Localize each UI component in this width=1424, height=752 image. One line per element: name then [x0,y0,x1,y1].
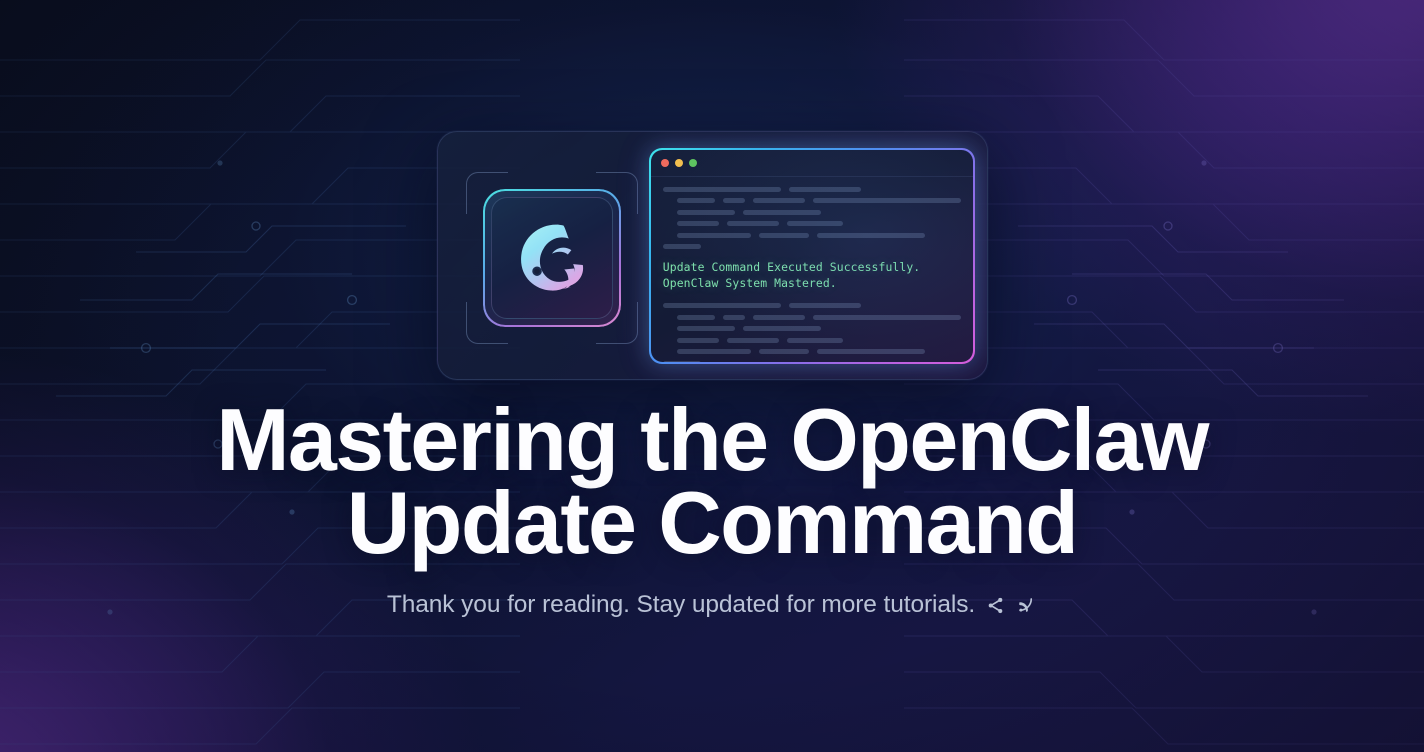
terminal-success-message: Update Command Executed Successfully. Op… [663,260,961,291]
skeleton-bar [787,338,843,343]
skeleton-row [663,221,961,226]
skeleton-bar [817,349,925,354]
skeleton-bar [723,315,745,320]
skeleton-bar [677,326,735,331]
skeleton-bar [727,221,779,226]
skeleton-bar [677,315,715,320]
terminal-window: Update Command Executed Successfully. Op… [649,148,975,364]
skeleton-row [663,244,961,249]
rss-icon[interactable] [1015,594,1037,616]
skeleton-bar [743,326,821,331]
skeleton-bar [663,361,701,362]
skeleton-bar [789,303,861,308]
terminal-content: Update Command Executed Successfully. Op… [651,177,973,362]
headline-group: Mastering the OpenClaw Update Command Th… [0,398,1424,620]
hero-card: Update Command Executed Successfully. Op… [437,131,988,380]
skeleton-bar [677,221,719,226]
circuit-pattern-left [0,0,520,752]
circuit-pattern-right [904,0,1424,752]
skeleton-bar [759,233,809,238]
logo-tile-inner [491,197,613,319]
skeleton-row [663,198,961,203]
skeleton-bar [753,315,805,320]
page-title: Mastering the OpenClaw Update Command [120,398,1304,564]
openclaw-logo-icon [508,214,596,302]
skeleton-bar [813,315,962,320]
terminal-body: Update Command Executed Successfully. Op… [651,150,973,362]
skeleton-row [663,361,961,362]
skeleton-bar [663,244,701,249]
traffic-light-maximize-icon[interactable] [689,159,697,167]
skeleton-bar [743,210,821,215]
skeleton-bar [759,349,809,354]
skeleton-row [663,303,961,308]
skeleton-row [663,349,961,354]
hero-banner: Update Command Executed Successfully. Op… [0,0,1424,752]
skeleton-row [663,187,961,192]
skeleton-bar [813,198,962,203]
logo-tile [483,189,621,327]
skeleton-bar [723,198,745,203]
subtitle-text: Thank you for reading. Stay updated for … [387,590,975,620]
skeleton-bar [677,198,715,203]
skeleton-bar [677,338,719,343]
skeleton-bar [727,338,779,343]
skeleton-row [663,210,961,215]
skeleton-bar [787,221,843,226]
skeleton-bar [753,198,805,203]
skeleton-bar [677,233,751,238]
skeleton-row [663,338,961,343]
skeleton-bar [677,349,751,354]
terminal-skeleton-top [663,187,961,250]
terminal-titlebar [651,150,973,177]
skeleton-bar [663,187,781,192]
skeleton-row [663,233,961,238]
skeleton-row [663,315,961,320]
logo-frame [466,172,638,344]
skeleton-bar [677,210,735,215]
share-icon[interactable] [984,594,1006,616]
skeleton-bar [789,187,861,192]
traffic-light-close-icon[interactable] [661,159,669,167]
terminal-skeleton-bottom [663,303,961,362]
subtitle-row: Thank you for reading. Stay updated for … [120,590,1304,620]
skeleton-bar [817,233,925,238]
traffic-light-minimize-icon[interactable] [675,159,683,167]
skeleton-bar [663,303,781,308]
skeleton-row [663,326,961,331]
